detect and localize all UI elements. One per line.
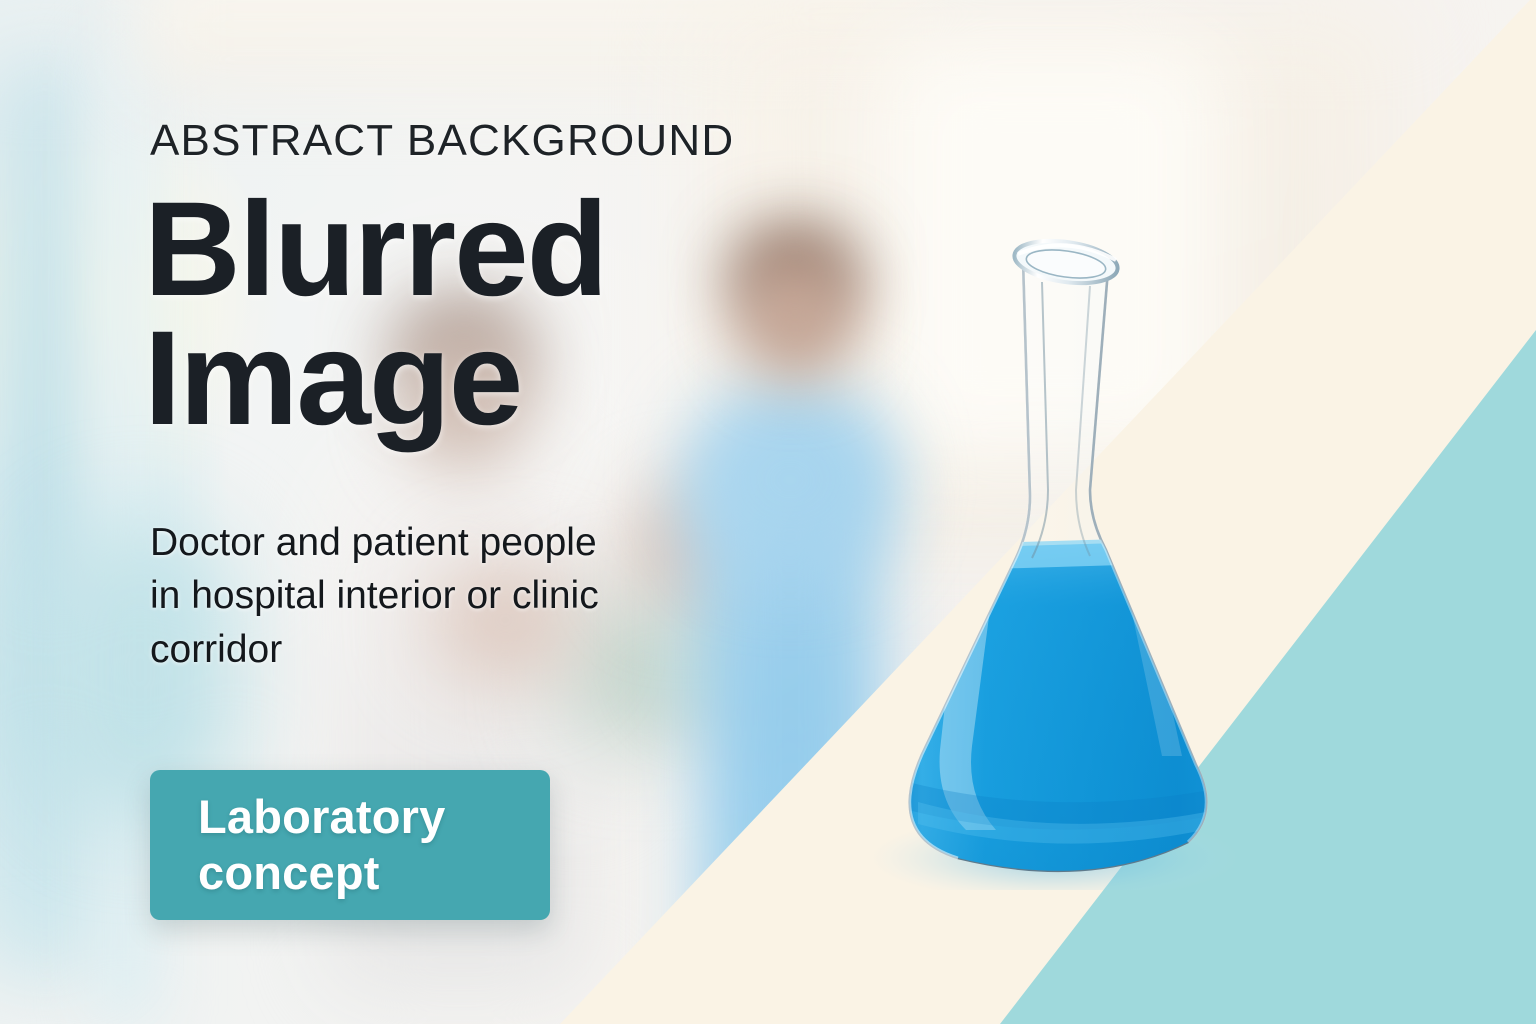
subcopy-line-1: Doctor and patient people: [150, 516, 599, 569]
headline-line-2: Image: [144, 315, 607, 444]
subcopy-line-3: corridor: [150, 623, 599, 676]
page-title: Blurred Image: [144, 186, 607, 443]
banner-content: ABSTRACT BACKGROUND Blurred Image Doctor…: [150, 0, 850, 1024]
laboratory-concept-button[interactable]: Laboratory concept: [150, 770, 550, 920]
flask-liquid: [880, 536, 1230, 890]
banner-canvas: ABSTRACT BACKGROUND Blurred Image Doctor…: [0, 0, 1536, 1024]
cta-line-2: concept: [198, 845, 550, 901]
headline-line-1: Blurred: [144, 186, 607, 315]
eyebrow-label: ABSTRACT BACKGROUND: [150, 116, 734, 166]
subcopy: Doctor and patient people in hospital in…: [150, 516, 599, 676]
subcopy-line-2: in hospital interior or clinic: [150, 569, 599, 622]
flask-icon: [790, 190, 1290, 890]
flask-illustration: [790, 190, 1290, 890]
cta-line-1: Laboratory: [198, 789, 550, 845]
